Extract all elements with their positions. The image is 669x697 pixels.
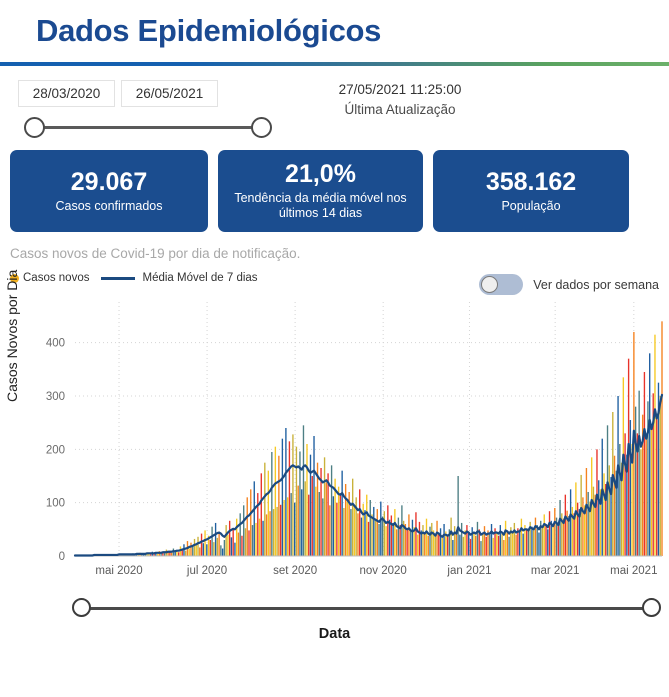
svg-text:200: 200 [46, 444, 65, 456]
svg-text:100: 100 [46, 498, 65, 510]
date-range-handle-right[interactable] [251, 117, 272, 138]
svg-text:nov 2020: nov 2020 [360, 565, 407, 577]
week-view-toggle-wrap: Ver dados por semana [479, 274, 659, 295]
kpi-card-tendencia[interactable]: 21,0% Tendência da média móvel nos últim… [218, 150, 423, 232]
kpi-card-populacao[interactable]: 358.162 População [433, 150, 629, 232]
page-header: Dados Epidemiológicos [0, 0, 669, 62]
kpi-value: 21,0% [285, 161, 356, 187]
x-axis-title: Data [0, 626, 669, 642]
start-date-input[interactable]: 28/03/2020 [18, 80, 115, 107]
svg-text:0: 0 [59, 551, 65, 563]
svg-text:mai 2020: mai 2020 [95, 565, 142, 577]
kpi-label: Tendência da média móvel nos últimos 14 … [226, 191, 415, 221]
filter-row: 28/03/2020 26/05/2021 27/05/2021 11:25:0… [0, 66, 669, 150]
chart-block: Casos novos de Covid-19 por dia de notif… [0, 246, 669, 642]
end-date-input[interactable]: 26/05/2021 [121, 80, 218, 107]
svg-text:jan 2021: jan 2021 [446, 565, 491, 577]
legend-line-icon [101, 277, 135, 280]
svg-text:300: 300 [46, 391, 65, 403]
kpi-label: População [501, 199, 560, 214]
kpi-value: 29.067 [71, 169, 147, 195]
legend-item-casos-novos[interactable]: Casos novos [10, 272, 89, 284]
svg-text:set 2020: set 2020 [273, 565, 317, 577]
last-update-timestamp: 27/05/2021 11:25:00 [300, 82, 500, 97]
legend-label: Casos novos [23, 272, 89, 284]
date-range-track[interactable] [38, 126, 258, 129]
kpi-card-casos-confirmados[interactable]: 29.067 Casos confirmados [10, 150, 208, 232]
svg-text:400: 400 [46, 338, 65, 350]
date-axis-slider[interactable] [0, 596, 669, 622]
svg-text:jul 2020: jul 2020 [186, 565, 227, 577]
kpi-row: 29.067 Casos confirmados 21,0% Tendência… [0, 150, 669, 232]
kpi-value: 358.162 [486, 169, 576, 195]
date-range-slider[interactable] [24, 116, 272, 140]
last-update-label: Última Atualização [300, 102, 500, 117]
date-range-inputs: 28/03/2020 26/05/2021 [18, 80, 218, 107]
date-range-handle-left[interactable] [24, 117, 45, 138]
svg-text:mar 2021: mar 2021 [531, 565, 580, 577]
svg-text:mai 2021: mai 2021 [610, 565, 657, 577]
chart-plot-area: Casos Novos por Dia 0100200300400mai 202… [0, 294, 669, 594]
date-axis-handle-left[interactable] [72, 598, 91, 617]
date-axis-handle-right[interactable] [642, 598, 661, 617]
chart-description: Casos novos de Covid-19 por dia de notif… [0, 246, 669, 261]
week-view-toggle-label: Ver dados por semana [533, 278, 659, 292]
week-view-toggle[interactable] [479, 274, 523, 295]
last-update-block: 27/05/2021 11:25:00 Última Atualização [300, 82, 500, 117]
legend-label: Média Móvel de 7 dias [142, 272, 257, 284]
page-title: Dados Epidemiológicos [36, 13, 381, 49]
toggle-knob[interactable] [481, 276, 498, 293]
legend-item-media-movel[interactable]: Média Móvel de 7 dias [89, 272, 257, 284]
chart-svg[interactable]: 0100200300400mai 2020jul 2020set 2020nov… [0, 294, 669, 594]
date-axis-track[interactable] [86, 607, 647, 610]
dashboard-page: Dados Epidemiológicos 28/03/2020 26/05/2… [0, 0, 669, 697]
kpi-label: Casos confirmados [56, 199, 163, 214]
